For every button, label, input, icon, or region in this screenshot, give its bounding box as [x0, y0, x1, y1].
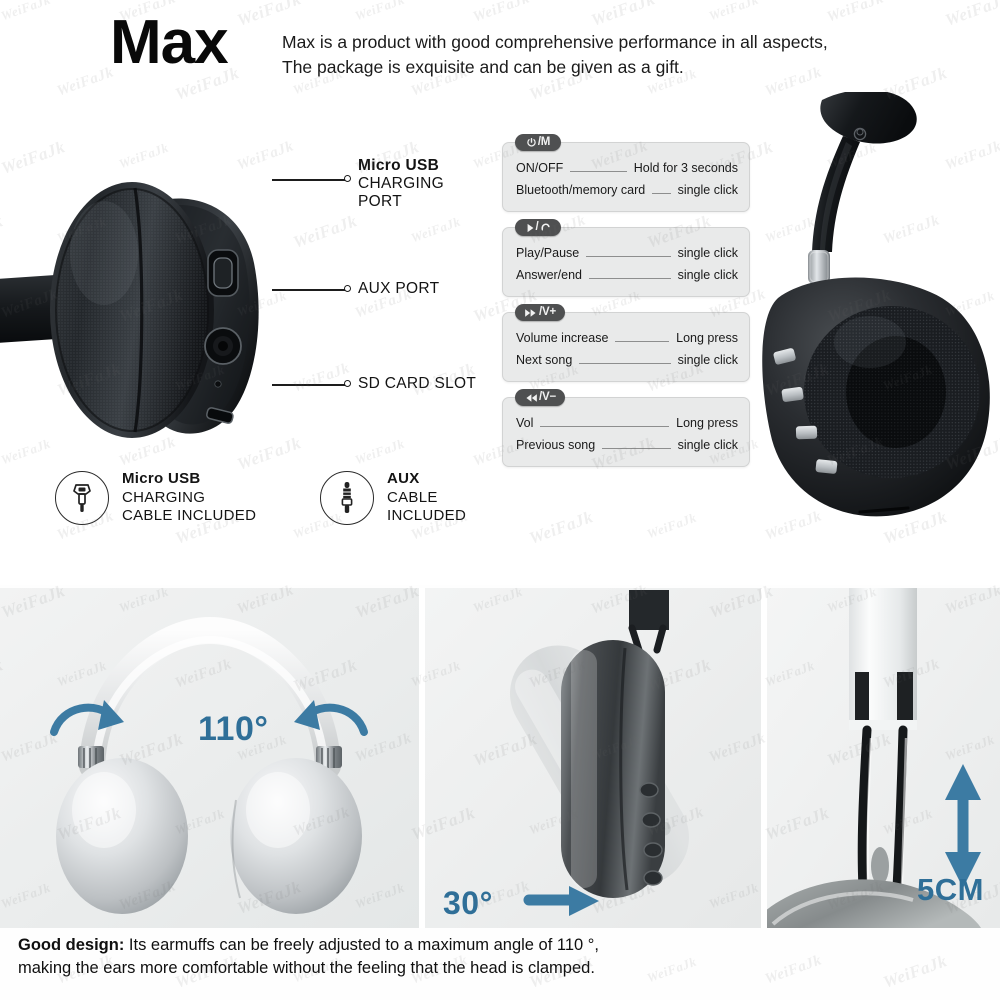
control-action: single click: [678, 268, 738, 282]
callout-label: Micro USB CHARGING PORT: [358, 157, 444, 211]
control-function: Previous song: [516, 438, 595, 452]
control-box-badge: /: [515, 219, 561, 236]
callout-label-line3: PORT: [358, 193, 444, 211]
control-function: Answer/end: [516, 268, 582, 282]
control-box-badge-label: /: [536, 222, 539, 233]
control-dash: [602, 448, 670, 449]
accessory-label-line1: Micro USB: [122, 470, 256, 489]
callout-leader-line: [272, 179, 346, 181]
control-dash: [589, 278, 671, 279]
control-row: ON/OFF Hold for 3 seconds: [516, 161, 738, 176]
annotation-30-degrees: 30°: [443, 885, 493, 922]
annotation-5cm: 5CM: [917, 872, 984, 908]
control-row: Play/Pause single click: [516, 246, 738, 261]
control-instruction-group: /M ON/OFF Hold for 3 seconds Bluetooth/m…: [502, 142, 754, 482]
callout-dot: [344, 380, 351, 387]
control-box-badge-label: /V−: [539, 392, 556, 403]
micro-usb-connector-icon: [55, 471, 109, 525]
page-title: Max: [110, 12, 228, 74]
header-description-line2: The package is exquisite and can be give…: [282, 57, 684, 77]
callout-label: SD CARD SLOT: [358, 375, 476, 393]
control-action: Long press: [676, 416, 738, 430]
play-icon: [526, 223, 535, 233]
accessory-label-line3: CABLE INCLUDED: [122, 507, 256, 526]
control-action: single click: [678, 353, 738, 367]
accessory-label: Micro USB CHARGING CABLE INCLUDED: [122, 470, 256, 526]
control-action: Hold for 3 seconds: [634, 161, 738, 175]
control-dash: [579, 363, 670, 364]
product-photo-earcup-ports: [0, 88, 292, 438]
feature-panel-30-degrees: [425, 588, 761, 928]
power-icon: [526, 137, 537, 148]
accessory-group: Micro USB CHARGING CABLE INCLUDED: [55, 470, 485, 542]
callout-dot: [344, 175, 351, 182]
control-function: Next song: [516, 353, 572, 367]
product-infographic: Max Max is a product with good comprehen…: [0, 0, 1000, 1000]
control-row: Volume increase Long press: [516, 331, 738, 346]
control-box-power-memory: /M ON/OFF Hold for 3 seconds Bluetooth/m…: [502, 142, 750, 212]
footer-caption: Good design: Its earmuffs can be freely …: [18, 934, 978, 980]
next-track-icon: [524, 308, 538, 318]
control-action: single click: [678, 438, 738, 452]
phone-handset-icon: [540, 222, 551, 233]
annotation-110-degrees: 110°: [198, 710, 268, 749]
accessory-label-line3: INCLUDED: [387, 507, 466, 526]
accessory-label-line2: CABLE: [387, 489, 466, 508]
control-function: Vol: [516, 416, 533, 430]
control-action: single click: [678, 183, 738, 197]
control-row: Next song single click: [516, 353, 738, 368]
accessory-label-line1: AUX: [387, 470, 466, 489]
control-function: Bluetooth/memory card: [516, 183, 645, 197]
callout-label: AUX PORT: [358, 280, 439, 298]
control-function: ON/OFF: [516, 161, 563, 175]
callout-leader-line: [272, 289, 346, 291]
header-description-line1: Max is a product with good comprehensive…: [282, 32, 828, 52]
control-box-previous-volume-down: /V− Vol Long press Previous song single …: [502, 397, 750, 467]
control-box-next-volume-up: /V+ Volume increase Long press Next song…: [502, 312, 750, 382]
control-dash: [540, 426, 669, 427]
control-row: Bluetooth/memory card single click: [516, 183, 738, 198]
control-dash: [570, 171, 627, 172]
product-photo-earcup-buttons: [740, 92, 1000, 572]
top-section: Max Max is a product with good comprehen…: [0, 0, 1000, 585]
header-description: Max is a product with good comprehensive…: [282, 30, 972, 80]
control-dash: [586, 256, 670, 257]
control-box-badge: /V−: [515, 389, 565, 406]
control-row: Previous song single click: [516, 438, 738, 453]
header: Max Max is a product with good comprehen…: [110, 16, 970, 96]
previous-track-icon: [524, 393, 538, 403]
footer-caption-line1: Its earmuffs can be freely adjusted to a…: [124, 936, 599, 954]
control-box-badge: /M: [515, 134, 561, 151]
callout-leader-line: [272, 384, 346, 386]
control-box-badge-label: /M: [538, 137, 550, 148]
callout-label-line2: CHARGING: [358, 175, 444, 193]
control-function: Play/Pause: [516, 246, 579, 260]
footer-caption-lead: Good design:: [18, 936, 124, 954]
accessory-label: AUX CABLE INCLUDED: [387, 470, 466, 526]
aux-jack-icon: [320, 471, 374, 525]
control-action: single click: [678, 246, 738, 260]
callout-label-bold: Micro USB: [358, 157, 444, 175]
feature-panel-110-degrees: [0, 588, 419, 928]
callout-label-line2: AUX PORT: [358, 280, 439, 298]
footer-caption-text: Good design: Its earmuffs can be freely …: [18, 934, 978, 980]
footer-caption-line2: making the ears more comfortable without…: [18, 959, 595, 977]
control-dash: [615, 341, 669, 342]
control-function: Volume increase: [516, 331, 608, 345]
accessory-label-line2: CHARGING: [122, 489, 256, 508]
control-box-badge: /V+: [515, 304, 565, 321]
control-box-badge-label: /V+: [539, 307, 556, 318]
control-action: Long press: [676, 331, 738, 345]
accessory-aux-cable: AUX CABLE INCLUDED: [320, 470, 466, 526]
callout-group: Micro USB CHARGING PORT AUX PORT SD CARD…: [272, 150, 507, 415]
control-row: Answer/end single click: [516, 268, 738, 283]
control-dash: [652, 193, 670, 194]
control-box-play-pause-call: / Play/Pause single click Answer/end si: [502, 227, 750, 297]
accessory-micro-usb-cable: Micro USB CHARGING CABLE INCLUDED: [55, 470, 256, 526]
callout-label-line2: SD CARD SLOT: [358, 375, 476, 393]
callout-dot: [344, 285, 351, 292]
feature-panel-strip: [0, 588, 1000, 928]
control-row: Vol Long press: [516, 416, 738, 431]
